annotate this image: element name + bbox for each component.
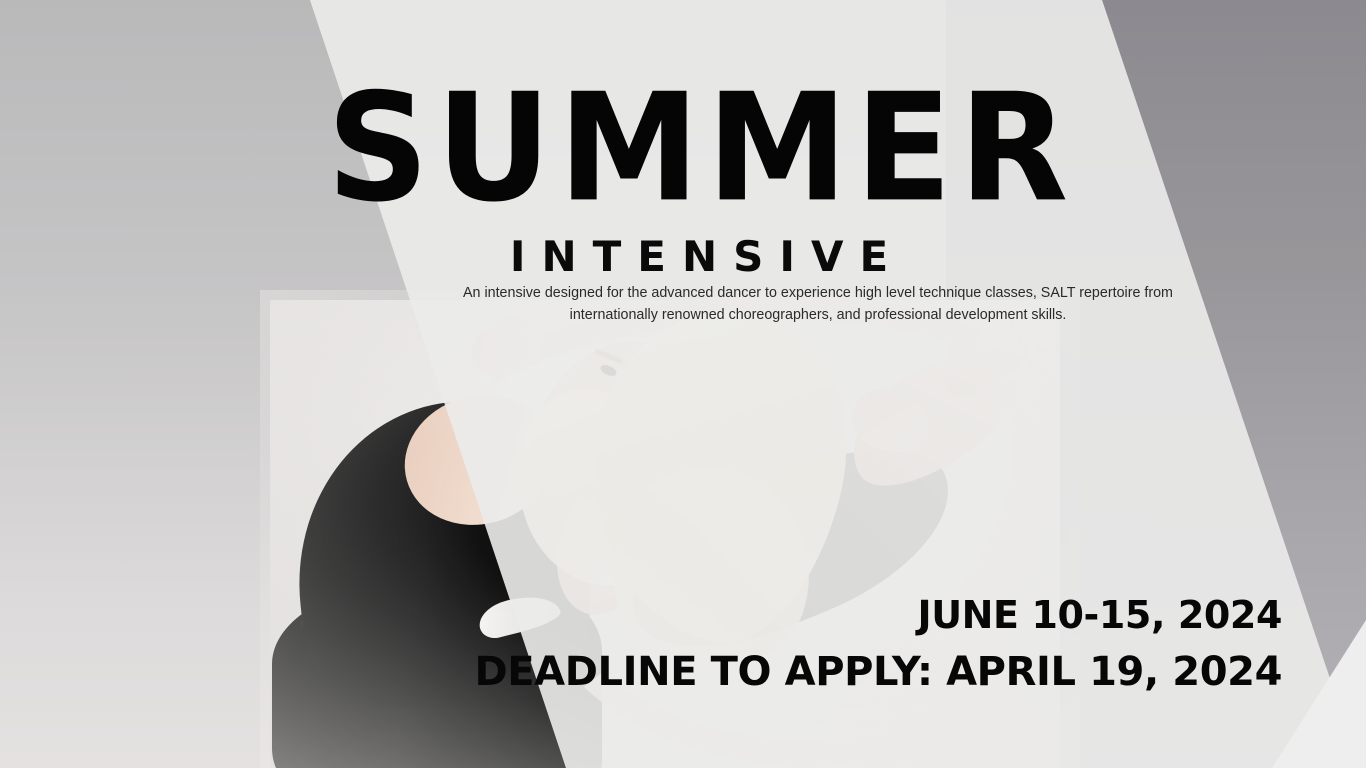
summer-intensive-poster: SUMMER INTENSIVE An intensive designed f… — [0, 0, 1366, 768]
event-dates: JUNE 10-15, 2024 — [0, 588, 1282, 643]
date-block: JUNE 10-15, 2024 DEADLINE TO APPLY: APRI… — [0, 588, 1282, 701]
text-content: SUMMER INTENSIVE An intensive designed f… — [0, 0, 1366, 768]
description-text: An intensive designed for the advanced d… — [434, 283, 1202, 326]
page-subtitle: INTENSIVE — [0, 232, 1366, 281]
page-title: SUMMER — [0, 74, 1366, 223]
application-deadline: DEADLINE TO APPLY: APRIL 19, 2024 — [0, 643, 1282, 701]
